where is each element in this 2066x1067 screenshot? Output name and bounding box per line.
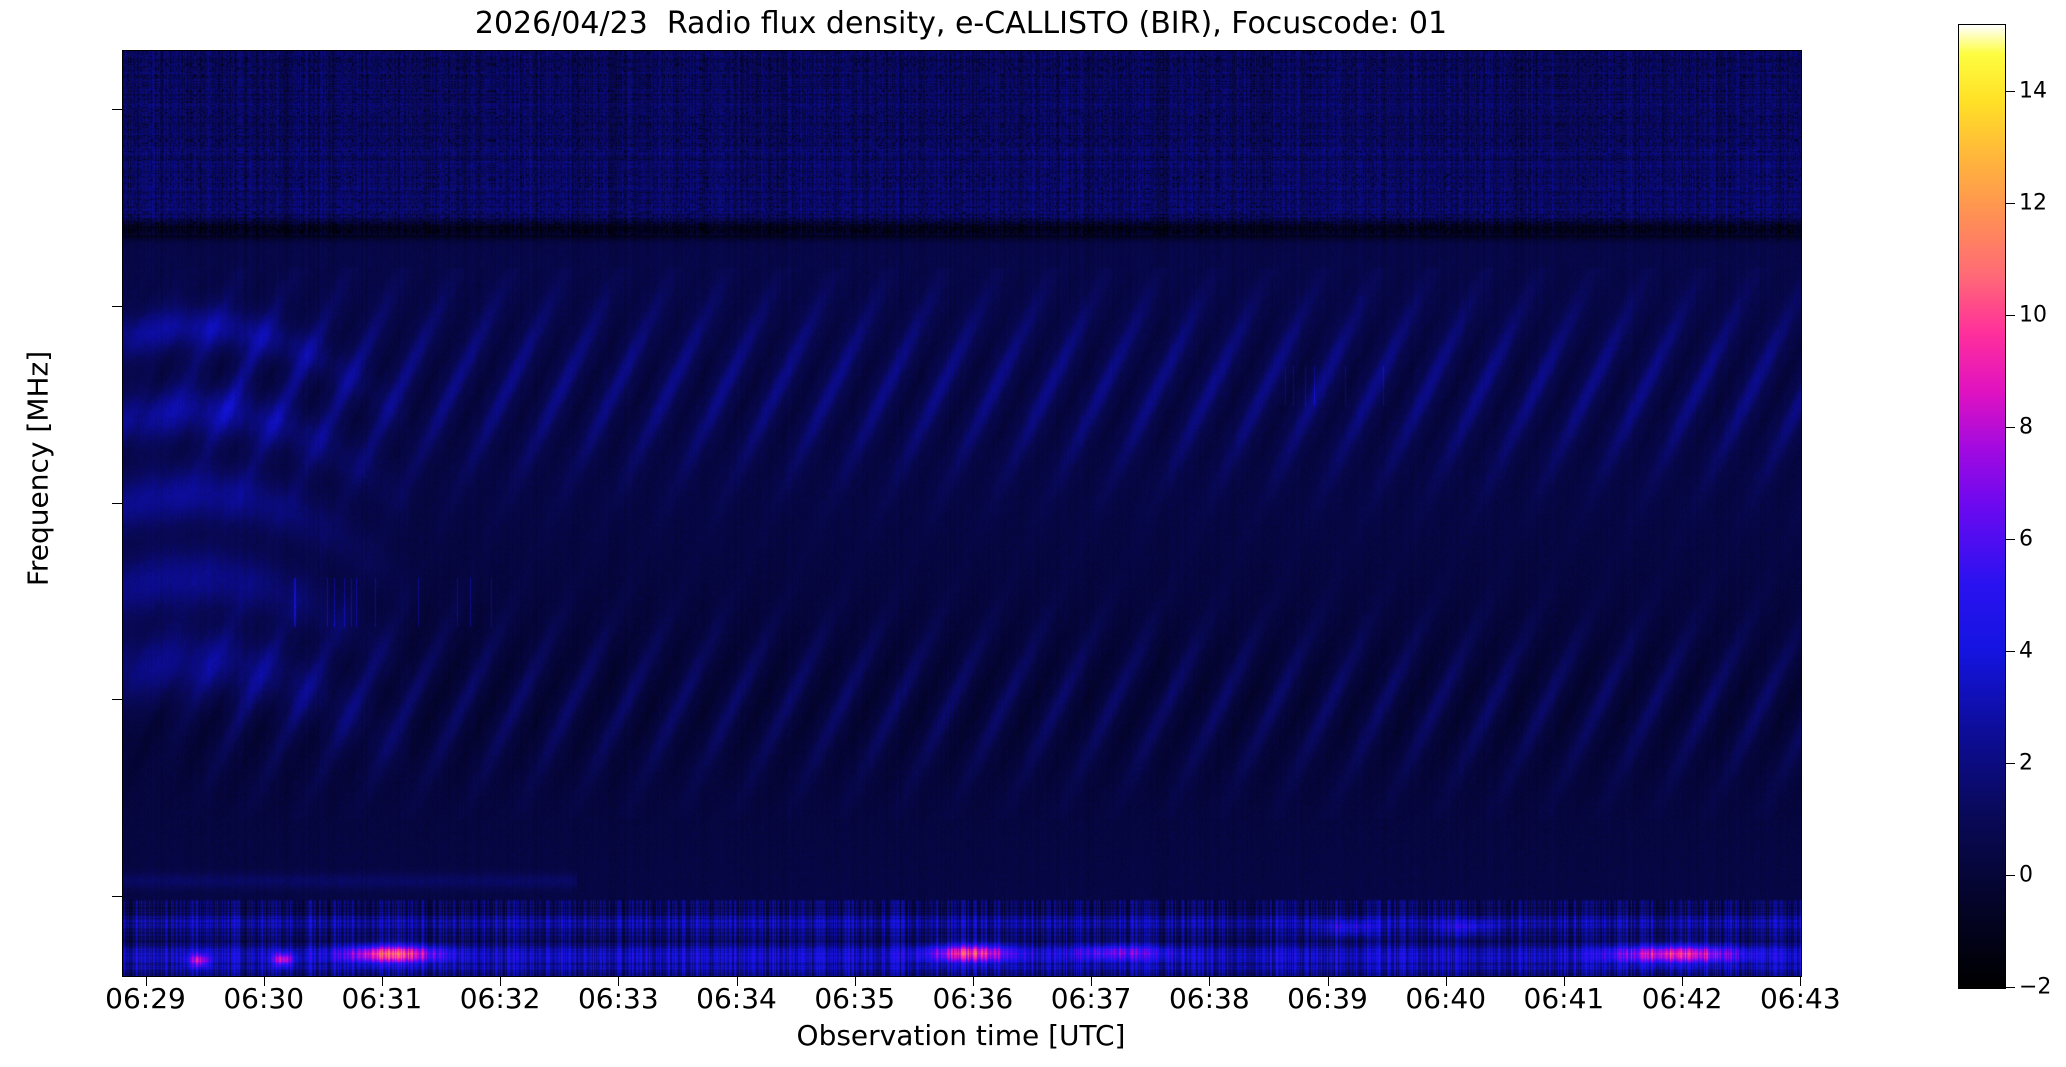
colorbar-tick-mark: [2006, 539, 2015, 540]
x-tick-mark: [737, 976, 738, 986]
colorbar-tick-label: 8: [2019, 415, 2033, 440]
colorbar: [1958, 24, 2006, 989]
figure-canvas: 2026/04/23 Radio flux density, e-CALLIST…: [0, 0, 2066, 1067]
x-tick-mark: [1564, 976, 1565, 986]
colorbar-tick-mark: [2006, 427, 2015, 428]
colorbar-tick-mark: [2006, 203, 2015, 204]
x-tick-mark: [1209, 976, 1210, 986]
y-tick-mark: [112, 699, 122, 700]
x-tick-mark: [1682, 976, 1683, 986]
x-tick-mark: [973, 976, 974, 986]
colorbar-tick-label: 14: [2019, 79, 2047, 104]
y-tick-mark: [112, 306, 122, 307]
x-tick-mark: [382, 976, 383, 986]
colorbar-tick-label: 6: [2019, 527, 2033, 552]
page-title: 2026/04/23 Radio flux density, e-CALLIST…: [122, 4, 1800, 44]
x-tick-mark: [1446, 976, 1447, 986]
x-tick-label: 06:43: [1730, 982, 1870, 1015]
colorbar-tick-mark: [2006, 763, 2015, 764]
colorbar-tick-mark: [2006, 875, 2015, 876]
colorbar-tick-mark: [2006, 315, 2015, 316]
x-tick-mark: [618, 976, 619, 986]
x-tick-mark: [500, 976, 501, 986]
x-tick-mark: [1800, 976, 1801, 986]
y-tick-mark: [112, 896, 122, 897]
colorbar-tick-label: 4: [2019, 639, 2033, 664]
x-tick-mark: [1091, 976, 1092, 986]
colorbar-tick-label: 0: [2019, 863, 2033, 888]
colorbar-gradient: [1959, 25, 2005, 988]
x-tick-mark: [264, 976, 265, 986]
colorbar-tick-label: 12: [2019, 191, 2047, 216]
y-tick-mark: [112, 109, 122, 110]
colorbar-tick-mark: [2006, 91, 2015, 92]
spectrogram-axes: [122, 50, 1802, 977]
y-tick-mark: [112, 503, 122, 504]
spectrogram-image: [123, 51, 1801, 976]
colorbar-tick-label: 10: [2019, 303, 2047, 328]
colorbar-tick-mark: [2006, 987, 2015, 988]
y-axis-label: Frequency [MHz]: [22, 189, 55, 749]
colorbar-tick-mark: [2006, 651, 2015, 652]
x-tick-mark: [146, 976, 147, 986]
x-tick-mark: [855, 976, 856, 986]
x-axis-label: Observation time [UTC]: [122, 1019, 1800, 1052]
x-tick-mark: [1328, 976, 1329, 986]
colorbar-tick-label: −2: [2019, 975, 2051, 1000]
colorbar-tick-label: 2: [2019, 751, 2033, 776]
